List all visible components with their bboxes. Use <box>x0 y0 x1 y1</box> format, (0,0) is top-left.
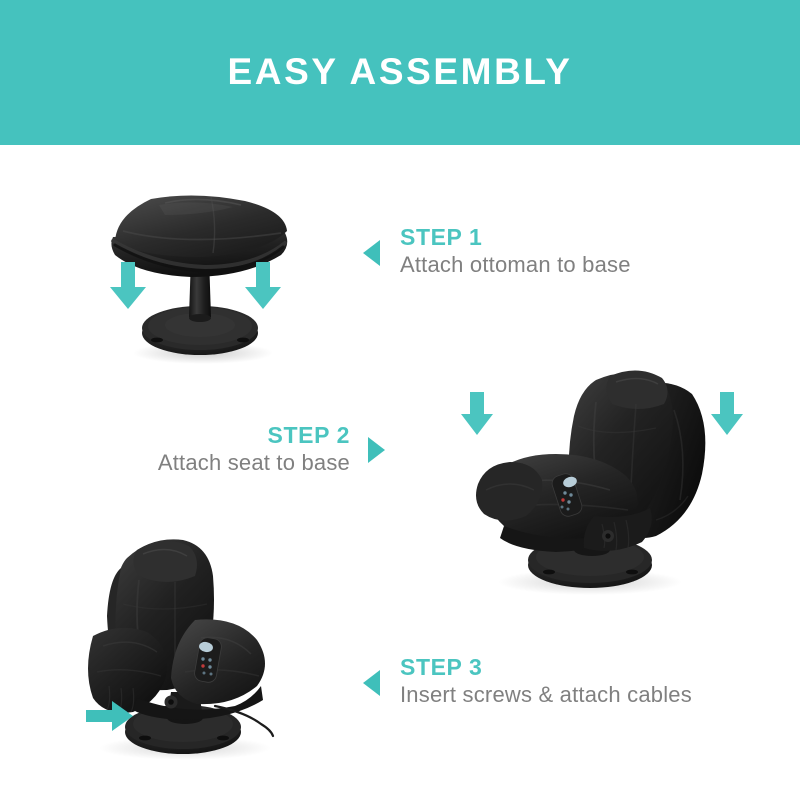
step-block-3: STEP 3 Insert screws & attach cables <box>400 654 770 709</box>
step-block-1: STEP 1 Attach ottoman to base <box>400 224 730 279</box>
arrow-down-icon <box>108 262 148 310</box>
step-title: STEP 2 <box>40 422 350 449</box>
arrow-down-icon <box>243 262 283 310</box>
triangle-left-icon <box>363 670 380 696</box>
triangle-right-icon <box>368 437 385 463</box>
header-banner: EASY ASSEMBLY <box>0 0 800 145</box>
triangle-left-icon <box>363 240 380 266</box>
product-recliner-seat-on-base <box>460 350 760 600</box>
step-block-2: STEP 2 Attach seat to base <box>40 422 350 477</box>
easy-assembly-infographic: EASY ASSEMBLY <box>0 0 800 800</box>
step-title: STEP 1 <box>400 224 730 251</box>
page-title: EASY ASSEMBLY <box>0 50 800 94</box>
step-title: STEP 3 <box>400 654 770 681</box>
arrow-right-icon <box>86 700 134 732</box>
arrow-down-icon <box>459 392 495 436</box>
step-description: Attach ottoman to base <box>400 251 730 279</box>
step-description: Attach seat to base <box>40 449 350 477</box>
arrow-down-icon <box>709 392 745 436</box>
step-description: Insert screws & attach cables <box>400 681 770 709</box>
